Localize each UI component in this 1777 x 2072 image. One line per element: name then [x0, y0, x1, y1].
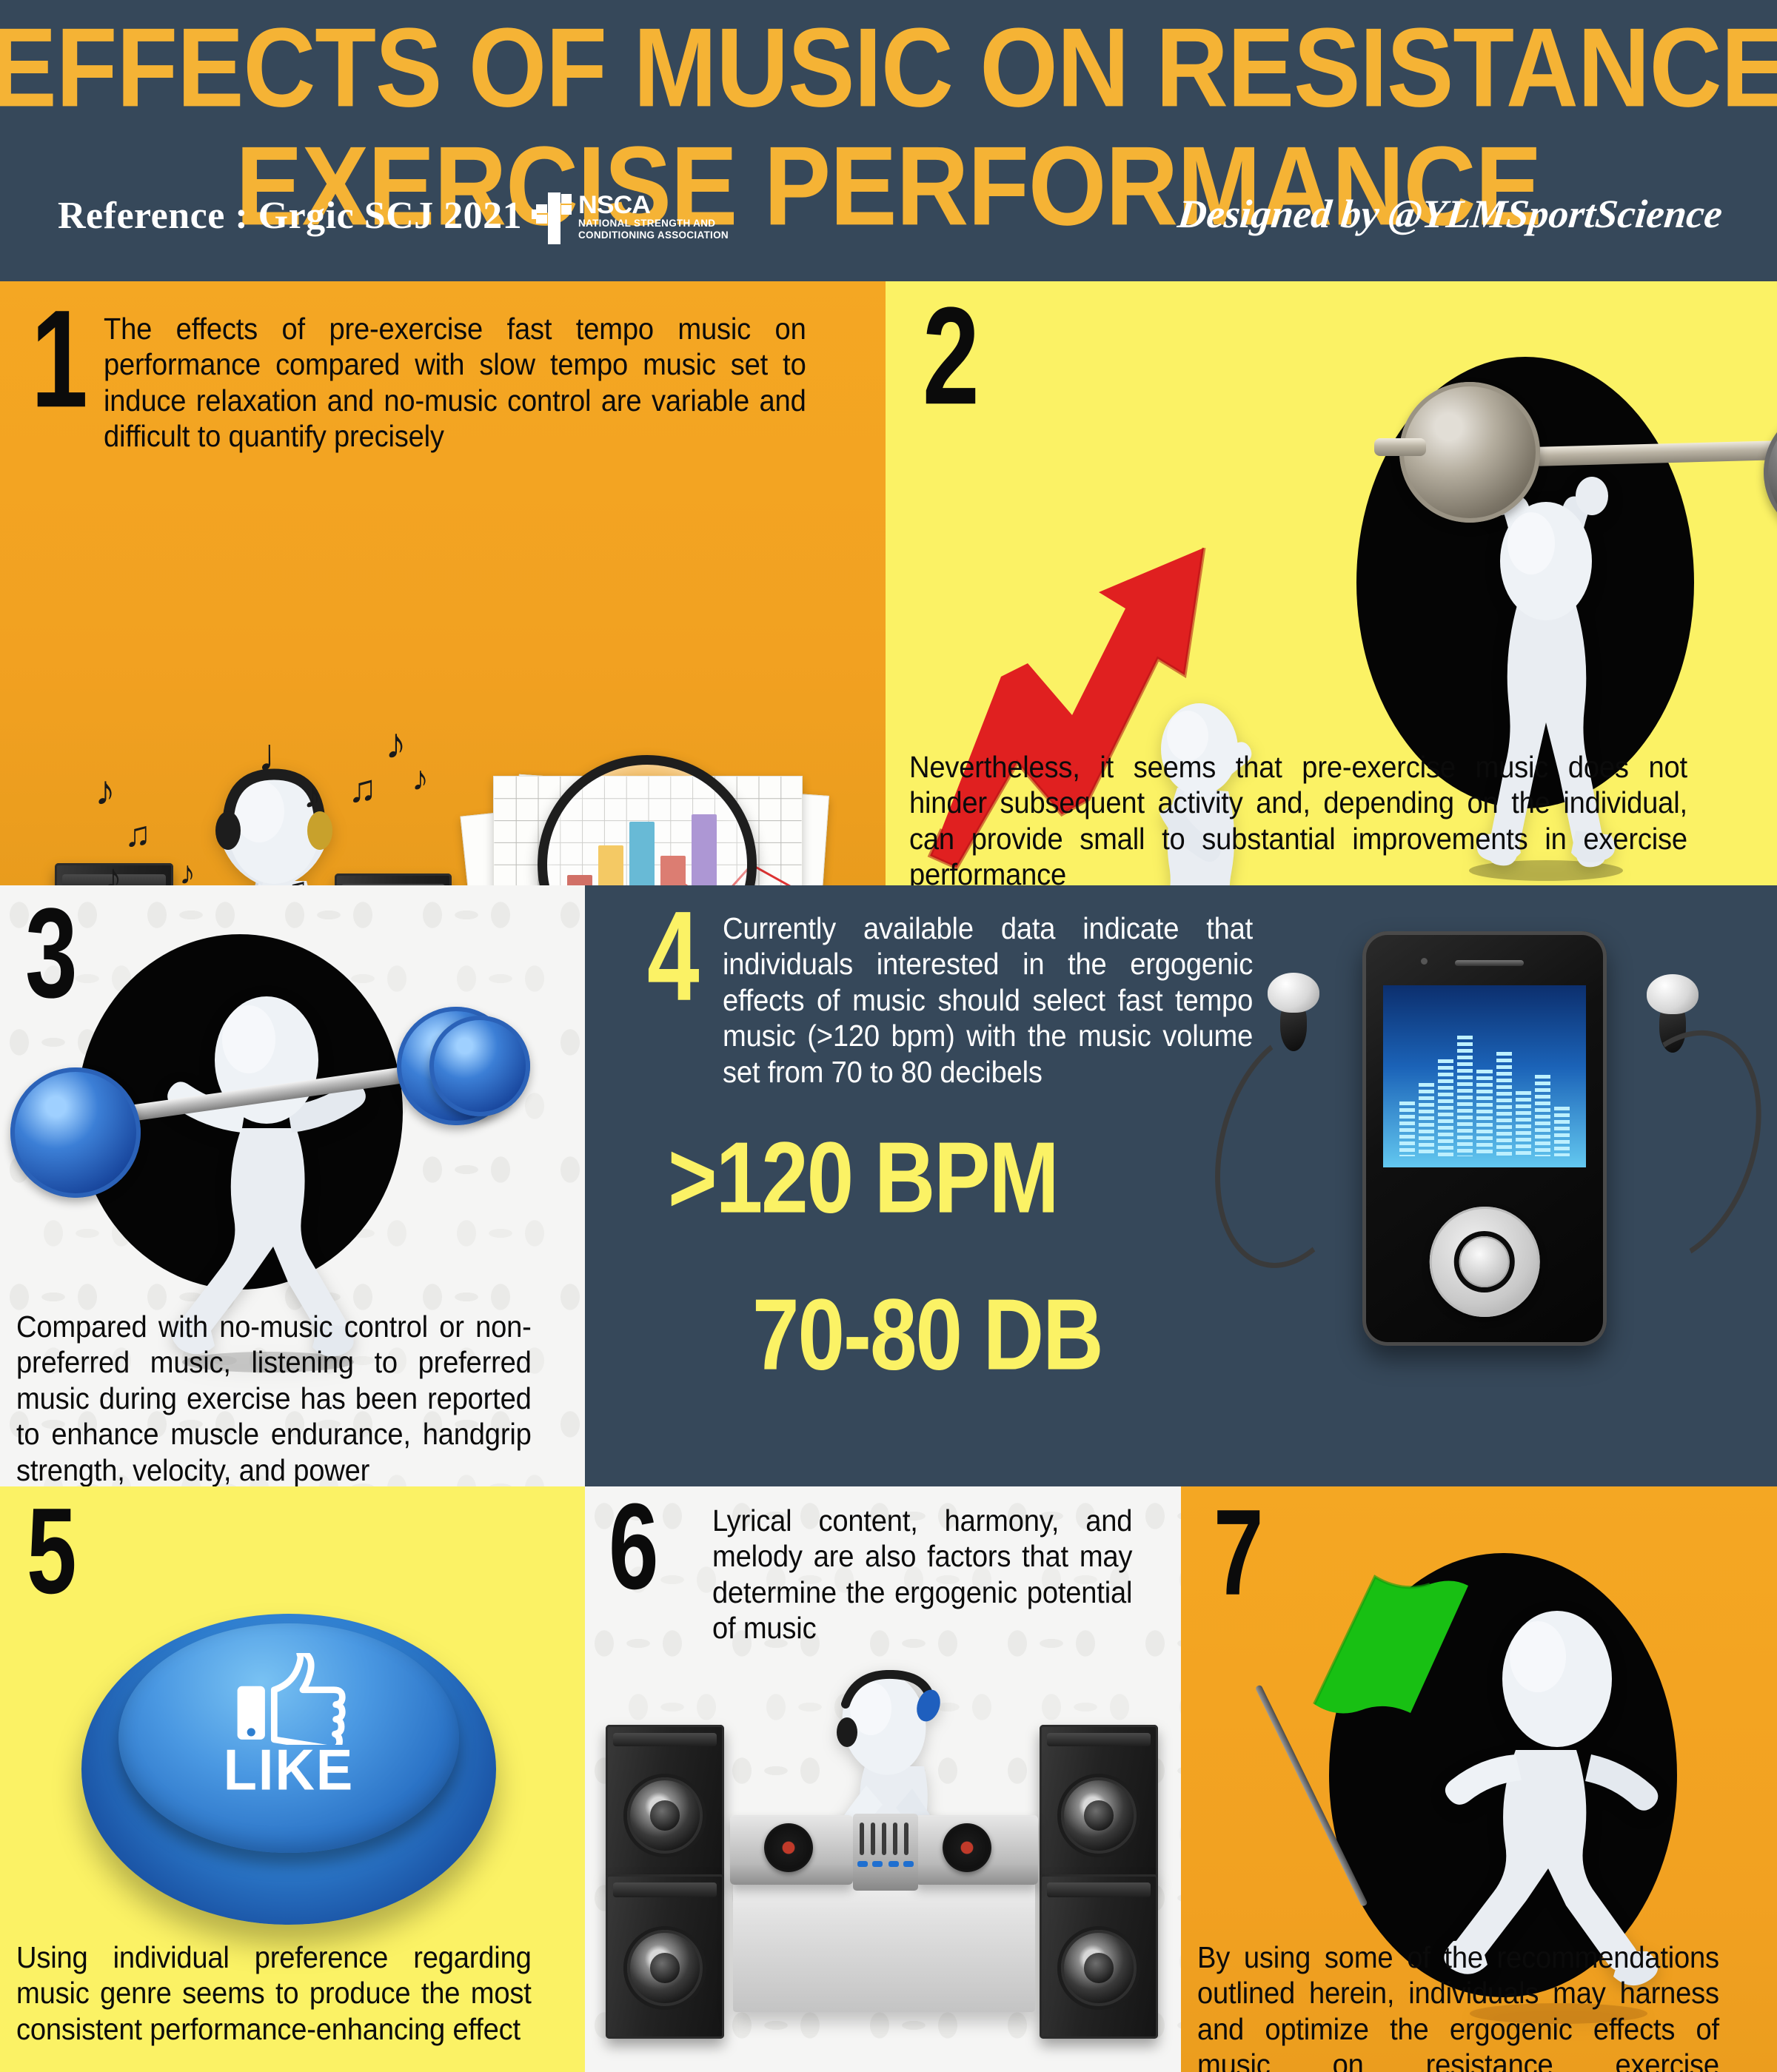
art-player-screen [1383, 985, 1586, 1167]
music-note-icon: ♫ [124, 817, 151, 853]
like-button-label: LIKE [118, 1737, 458, 1803]
panel-7: 7 By using some of the recommendations o… [1181, 1486, 1777, 2072]
panel-7-text: By using some of the recommendations out… [1197, 1939, 1719, 2072]
magnifier-icon [538, 755, 757, 885]
art-dj-speaker-left [606, 1725, 724, 1880]
panel-1-text: The effects of pre-exercise fast tempo m… [104, 311, 806, 455]
music-note-icon: ♪ [179, 857, 195, 885]
art-dj-speaker-right-bottom [1040, 1874, 1158, 2039]
panel-3-text: Compared with no-music control or non-pr… [16, 1309, 532, 1486]
panel-6-number: 6 [609, 1497, 659, 1597]
panel-1: 1 The effects of pre-exercise fast tempo… [0, 281, 886, 885]
panel-2: 2 [886, 281, 1777, 885]
panel-4-text: Currently available data indicate that i… [723, 911, 1253, 1090]
art-dj-speaker-left-bottom [606, 1874, 724, 2039]
panel-4: 4 Currently available data indicate that… [585, 885, 1777, 1486]
music-note-icon: ♪ [95, 770, 116, 811]
page-title: EFFECTS OF MUSIC ON RESISTANCE EXERCISE … [0, 10, 1777, 216]
panel-3-number: 3 [25, 902, 78, 1006]
music-note-icon: ♪ [104, 859, 122, 885]
art-barbell-plate [10, 1067, 141, 1198]
art-player-control-wheel[interactable] [1430, 1207, 1540, 1317]
panel-2-text: Nevertheless, it seems that pre-exercise… [909, 749, 1687, 885]
panel-4-number: 4 [647, 905, 700, 1009]
infographic-poster: EFFECTS OF MUSIC ON RESISTANCE EXERCISE … [0, 0, 1777, 2072]
music-note-icon: ♫ [348, 770, 377, 808]
like-button[interactable]: LIKE [81, 1614, 496, 1925]
nsca-logo: NSCA NATIONAL STRENGTH AND CONDITIONING … [532, 190, 729, 244]
panel-5: 5 LIKE Using individual preference regar… [0, 1486, 585, 2072]
panel-5-number: 5 [27, 1501, 77, 1601]
art-barbell-plate [429, 1016, 530, 1116]
nsca-mark-icon [532, 190, 573, 244]
title-line-1: EFFECTS OF MUSIC ON RESISTANCE [0, 10, 1777, 126]
panel-2-number: 2 [923, 299, 980, 413]
art-mixer-faders [853, 1814, 918, 1891]
nsca-acronym: NSCA [578, 192, 736, 218]
music-note-icon: ♪ [385, 722, 406, 765]
music-note-icon: ♩ [258, 733, 304, 779]
panel-7-number: 7 [1214, 1503, 1264, 1603]
panel-5-text: Using individual preference regarding mu… [16, 1939, 532, 2047]
art-turntable-right[interactable] [915, 1815, 1038, 1885]
panel-1-number: 1 [31, 302, 88, 416]
art-equalizer-bars [1399, 1025, 1570, 1156]
art-mp3-player [1362, 931, 1607, 1346]
art-player-speaker-grille [1455, 960, 1523, 966]
designer-credit: Designed by @YLMSportScience [1176, 191, 1724, 237]
art-dj-mixer[interactable] [853, 1814, 918, 1891]
art-vinyl-record [943, 1823, 991, 1872]
panel-3: 3 Compared with no-music control or non-… [0, 885, 585, 1486]
art-turntable-left[interactable] [730, 1815, 853, 1885]
nsca-line-2: CONDITIONING ASSOCIATION [578, 229, 729, 241]
header-banner: EFFECTS OF MUSIC ON RESISTANCE EXERCISE … [0, 0, 1777, 281]
panel-6-text: Lyrical content, harmony, and melody are… [712, 1503, 1132, 1646]
reference-text: Reference : Grgic SCJ 2021 [58, 194, 522, 238]
music-note-icon: ♪ [304, 779, 321, 814]
stat-decibels: 70-80 DB [752, 1276, 1102, 1392]
music-note-icon: ♫ [283, 872, 309, 885]
art-dj-speaker-right [1040, 1725, 1158, 1880]
art-player-camera [1421, 958, 1428, 965]
art-barbell-plate [1764, 406, 1777, 539]
nsca-logo-text: NSCA NATIONAL STRENGTH AND CONDITIONING … [578, 192, 729, 241]
stat-bpm: >120 BPM [668, 1119, 1058, 1236]
thumbs-up-icon [207, 1653, 370, 1745]
music-note-icon: ♪ [412, 761, 429, 795]
nsca-line-1: NATIONAL STRENGTH AND [578, 218, 729, 229]
like-button-top: LIKE [118, 1623, 458, 1854]
art-vinyl-record [764, 1823, 813, 1872]
art-barbell-collar [1374, 438, 1426, 456]
panel-6: 6 Lyrical content, harmony, and melody a… [585, 1486, 1181, 2072]
art-dj-console [733, 1871, 1035, 2012]
